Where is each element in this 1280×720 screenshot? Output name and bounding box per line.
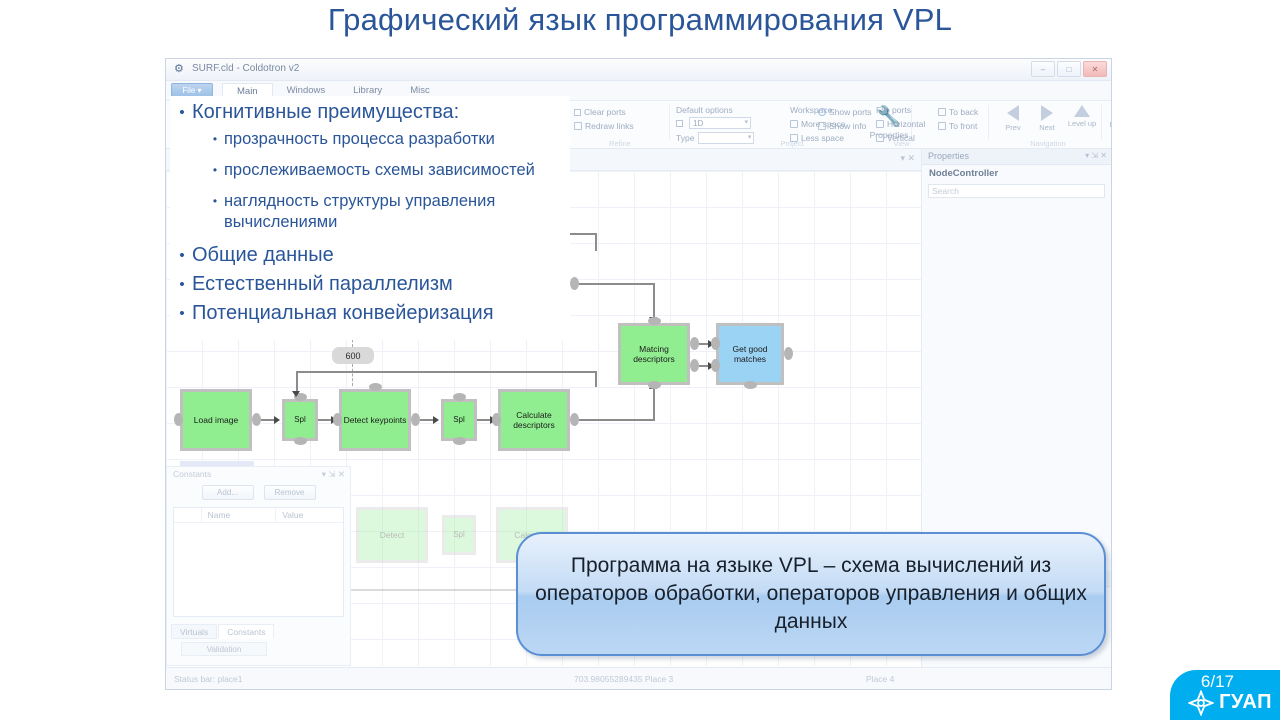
status-left: Status bar: place1 (174, 674, 243, 684)
close-button[interactable]: ✕ (1083, 61, 1107, 77)
bullet-item-7: • Потенциальная конвейеризация (172, 301, 568, 326)
link (653, 283, 655, 321)
bullet-item-2: • прозрачность процесса разработки (172, 129, 568, 150)
divider (669, 105, 670, 139)
port (711, 359, 720, 372)
port (453, 393, 466, 401)
port (369, 383, 382, 391)
constants-panel: Constants ▾ ⇲ ✕ Add... Remove Name Value… (166, 466, 351, 666)
bullet-text: Когнитивные преимущества: (192, 100, 459, 125)
show-info-icon (818, 122, 826, 130)
grid-plus-icon (790, 120, 798, 128)
default-options-row[interactable]: 1D (676, 117, 751, 129)
bullet-list: • Когнитивные преимущества: • прозрачнос… (170, 96, 570, 340)
window-titlebar: ⚙ SURF.cld - Coldotron v2 – □ ✕ (166, 59, 1111, 81)
port (174, 413, 183, 426)
ribbon-group-zoom: 1:1 Real size ⌕ Le Zoom (1106, 102, 1112, 148)
port (252, 413, 261, 426)
to-back-icon (938, 108, 946, 116)
tab-validation[interactable]: Validation (181, 642, 267, 656)
col-name: Name (202, 508, 277, 522)
constants-table[interactable]: Name Value (173, 507, 344, 617)
ghost-node-detect: Detect (356, 507, 428, 563)
callout-text: Программа на языке VPL – схема вычислени… (518, 552, 1104, 636)
properties-panel-title: Properties (928, 151, 969, 161)
callout-box: Программа на языке VPL – схема вычислени… (516, 532, 1106, 656)
properties-search-input[interactable]: Search (928, 184, 1105, 198)
link (653, 387, 655, 421)
divider (988, 105, 989, 139)
bullet-item-1: • Когнитивные преимущества: (172, 100, 568, 125)
to-back-button[interactable]: To back (938, 106, 978, 118)
prev-icon (1007, 105, 1019, 121)
window-title: SURF.cld - Coldotron v2 (192, 63, 299, 74)
port (294, 437, 307, 445)
bullet-dot: • (172, 243, 192, 268)
level-up-button[interactable]: Level up (1066, 105, 1098, 128)
node-detect-keypoints-bottom[interactable]: Detect keypoints (339, 389, 411, 451)
bullet-text: Потенциальная конвейеризация (192, 301, 494, 326)
arrow-icon (274, 416, 280, 424)
bullet-dot: • (172, 100, 192, 125)
port (570, 413, 579, 426)
bullet-item-6: • Естественный параллелизм (172, 272, 568, 297)
constants-panel-title: Constants (173, 469, 211, 479)
arrow-icon (433, 416, 439, 424)
ghost-node-spl-2: Spl (442, 515, 476, 555)
remove-constant-button[interactable]: Remove (264, 485, 316, 500)
ribbon-group-label-zoom: Zoom (1106, 139, 1112, 148)
status-middle: 703.98055289435 Place 3 (574, 674, 673, 684)
checkbox-icon[interactable] (676, 120, 683, 127)
redraw-links-button[interactable]: Redraw links (574, 120, 634, 132)
divider (1101, 105, 1102, 139)
bullet-dot: • (172, 301, 192, 326)
port (711, 337, 720, 350)
constants-table-header: Name Value (174, 508, 343, 523)
bullet-text: прозрачность процесса разработки (224, 129, 495, 150)
bullet-dot: • (206, 160, 224, 181)
node-matcing-descriptors[interactable]: Matcing descriptors (618, 323, 690, 385)
horizontal-icon (876, 120, 884, 128)
ribbon-group-label-view: View (814, 139, 989, 148)
slide: Графический язык программирования VPL ⚙ … (0, 0, 1280, 720)
port (784, 347, 793, 360)
tab-virtuals[interactable]: Virtuals (171, 624, 217, 639)
clear-ports-checkbox[interactable]: Clear ports (574, 106, 626, 118)
checkbox-icon (574, 109, 581, 116)
link (318, 419, 332, 421)
constants-buttons: Add... Remove (167, 485, 350, 500)
window-controls[interactable]: – □ ✕ (1031, 61, 1107, 77)
level-up-icon (1074, 105, 1090, 117)
brand-name: ГУАП (1219, 691, 1272, 714)
ribbon-group-label-refine: Refine (570, 139, 670, 148)
dimension-select[interactable]: 1D (689, 117, 751, 129)
show-ports-toggle[interactable]: Show ports (818, 106, 872, 118)
col-value: Value (276, 508, 343, 522)
link (296, 371, 596, 373)
ribbon-group-refine: Clear ports Redraw links Refine (570, 102, 670, 148)
link (579, 419, 654, 421)
page-title: Графический язык программирования VPL (0, 2, 1280, 38)
real-size-button[interactable]: 1:1 Real size (1108, 106, 1112, 129)
ribbon-group-label-navigation: Navigation (994, 139, 1102, 148)
constants-panel-tabs: Virtuals Constants (171, 624, 346, 639)
node-get-good-matches[interactable]: Get good matches (716, 323, 784, 385)
next-button[interactable]: Next (1032, 105, 1062, 132)
bullet-text: наглядность структуры управления вычисле… (224, 191, 568, 233)
app-icon: ⚙ (174, 63, 187, 76)
bullet-text: Общие данные (192, 243, 334, 268)
link (261, 419, 275, 421)
link (477, 419, 491, 421)
show-ports-icon (818, 108, 826, 116)
document-close-icon[interactable]: ▾ ✕ (900, 153, 915, 164)
bullet-dot: • (206, 129, 224, 150)
bullet-text: Естественный параллелизм (192, 272, 453, 297)
node-spl-bottom-1[interactable]: Spl (282, 399, 318, 441)
status-right: Place 4 (866, 674, 894, 684)
port (453, 437, 466, 445)
ribbon-group-view: Show ports Show info Flip ports Horizont… (814, 102, 989, 148)
port (690, 359, 699, 372)
page-badge: 6/17 ГУАП (1170, 658, 1280, 720)
show-info-toggle[interactable]: Show info (818, 120, 866, 132)
ribbon-group-navigation: Prev Next Level up Navigation (994, 102, 1102, 148)
link (579, 283, 654, 285)
minimize-button[interactable]: – (1031, 61, 1055, 77)
to-front-icon (938, 122, 946, 130)
bullet-text: прослеживаемость схемы зависимостей (224, 160, 535, 181)
page-number: 6/17 (1201, 672, 1234, 692)
redraw-icon (574, 122, 582, 130)
next-icon (1041, 105, 1053, 121)
guap-logo-icon (1188, 690, 1214, 716)
link (420, 419, 434, 421)
tab-constants[interactable]: Constants (218, 624, 274, 639)
properties-subject: NodeController (922, 165, 1111, 182)
port (492, 413, 501, 426)
constants-panel-header: Constants ▾ ⇲ ✕ (167, 467, 350, 481)
bullet-dot: • (172, 272, 192, 297)
port (648, 317, 661, 325)
col-blank (174, 508, 202, 522)
port (690, 337, 699, 350)
zoom-ratio: 1:1 (1108, 106, 1112, 118)
port (333, 413, 342, 426)
arrow-icon (292, 391, 300, 397)
bullet-dot: • (206, 191, 224, 233)
file-menu-label: File (182, 86, 195, 95)
default-options-label: Default options (676, 104, 733, 116)
const-node-600[interactable]: 600 (332, 347, 374, 364)
prev-button[interactable]: Prev (998, 105, 1028, 132)
to-front-button[interactable]: To front (938, 120, 977, 132)
add-constant-button[interactable]: Add... (202, 485, 254, 500)
node-load-image-bottom[interactable]: Load image (180, 389, 252, 451)
panel-controls-icon[interactable]: ▾ ⇲ ✕ (1085, 151, 1107, 160)
link (595, 233, 597, 251)
port (648, 381, 661, 389)
port (744, 381, 757, 389)
app-status-bar: Status bar: place1 703.98055289435 Place… (166, 667, 1111, 690)
panel-controls-icon[interactable]: ▾ ⇲ ✕ (322, 469, 345, 480)
port (411, 413, 420, 426)
flip-ports-label: Flip ports (876, 104, 911, 116)
properties-panel-header: Properties ▾ ⇲ ✕ (922, 149, 1111, 165)
dashed-link (352, 364, 353, 386)
port (570, 277, 579, 290)
node-spl-bottom-2[interactable]: Spl (441, 399, 477, 441)
maximize-button[interactable]: □ (1057, 61, 1081, 77)
link (595, 371, 597, 387)
flip-horizontal-button[interactable]: Horizontal (876, 118, 925, 130)
bullet-item-3: • прослеживаемость схемы зависимостей (172, 160, 568, 181)
node-calculate-descriptors-bottom[interactable]: Calculate descriptors (498, 389, 570, 451)
bullet-item-4: • наглядность структуры управления вычис… (172, 191, 568, 233)
bullet-item-5: • Общие данные (172, 243, 568, 268)
